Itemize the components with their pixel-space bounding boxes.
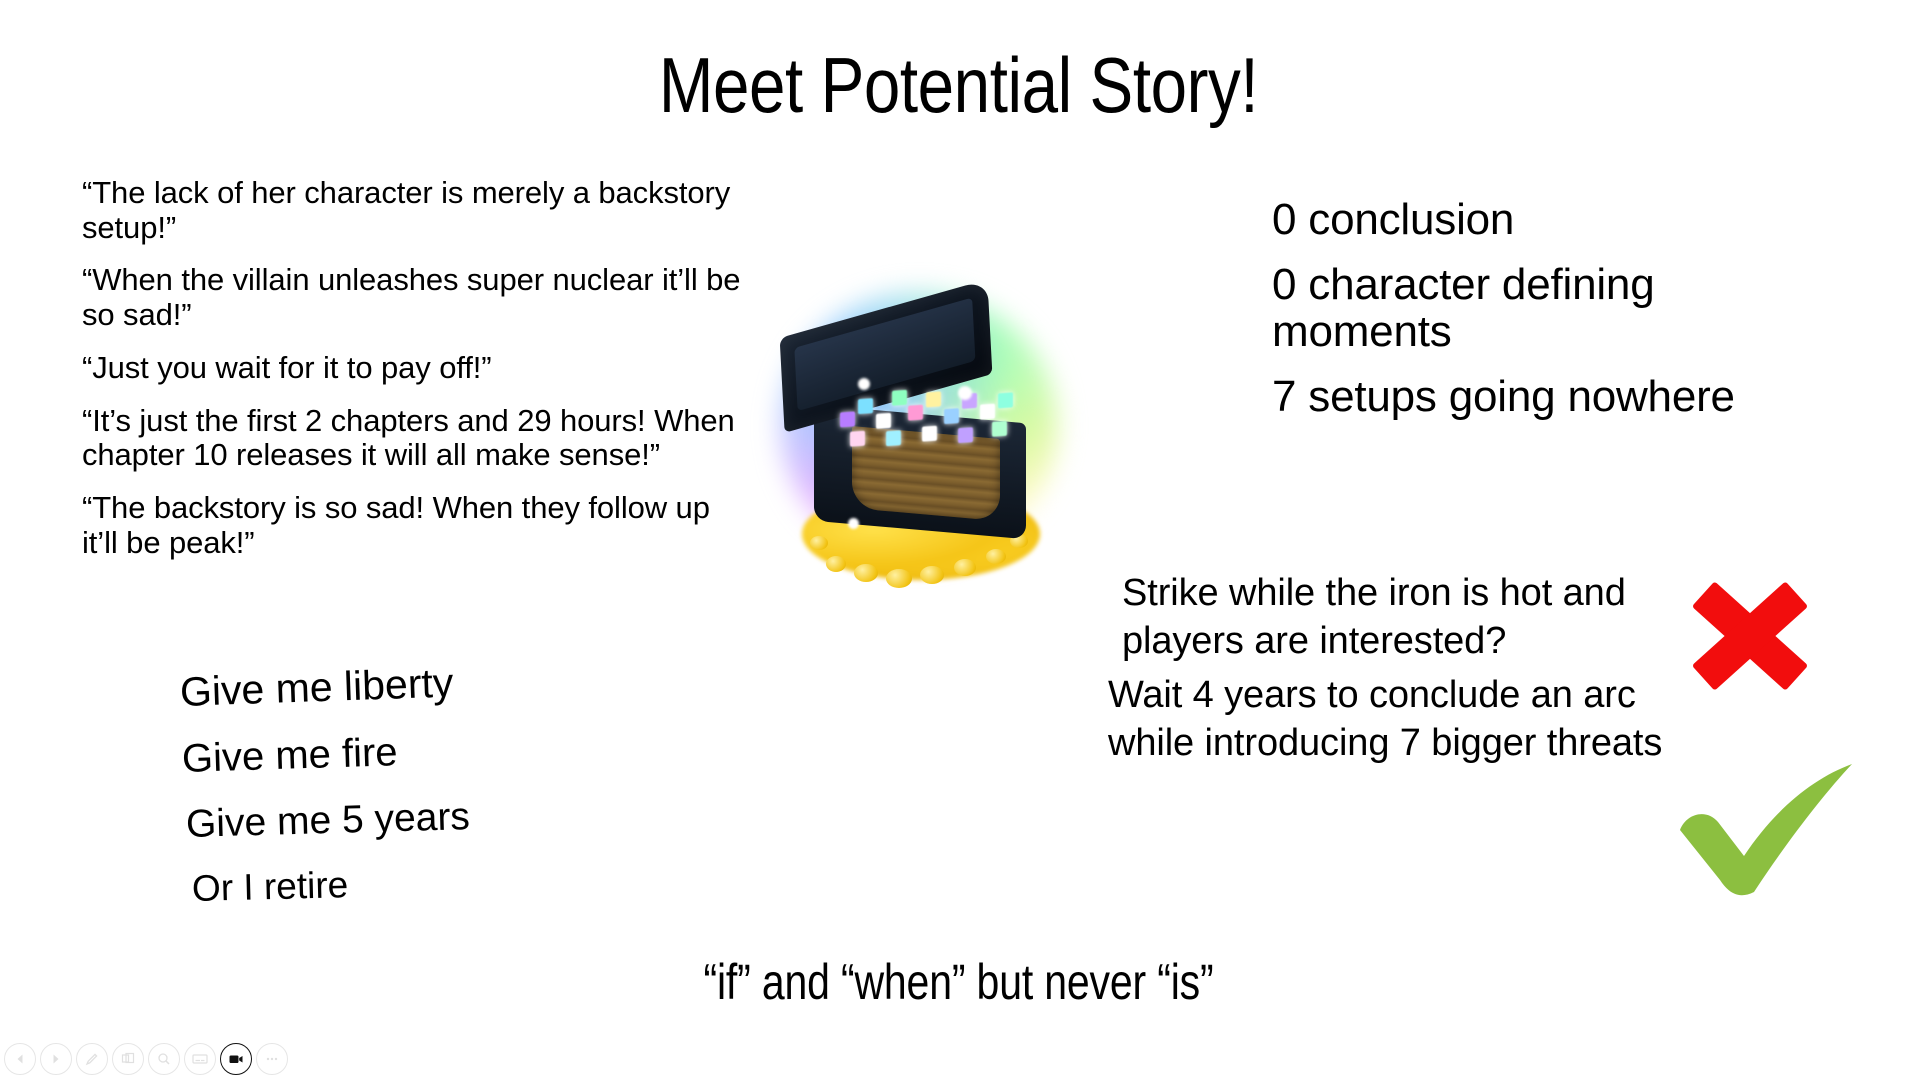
treasure-chest-image [762, 282, 1082, 602]
poem-line: Give me liberty [179, 655, 670, 713]
gem [858, 398, 873, 414]
stats-list: 0 conclusion 0 character defining moment… [1272, 196, 1792, 420]
presentation-slide: Meet Potential Story! “The lack of her c… [0, 0, 1917, 1079]
gem [892, 390, 907, 406]
page-title: Meet Potential Story! [153, 46, 1763, 124]
stat-item: 7 setups going nowhere [1272, 373, 1792, 420]
gem [850, 431, 865, 447]
gem [908, 405, 923, 421]
captions-icon[interactable] [184, 1043, 216, 1075]
gold-coin [954, 559, 976, 576]
sparkle [848, 518, 859, 529]
gold-coin [986, 549, 1006, 564]
list-item: “Just you wait for it to pay off!” [82, 351, 742, 386]
poem-block: Give me liberty Give me fire Give me 5 y… [150, 672, 670, 907]
stat-item: 0 character defining moments [1272, 261, 1792, 355]
camera-icon[interactable] [220, 1043, 252, 1075]
magnifier-icon[interactable] [148, 1043, 180, 1075]
presentation-toolbar [0, 1039, 288, 1079]
previous-slide-icon[interactable] [4, 1043, 36, 1075]
gold-coin [810, 536, 828, 550]
green-check-mark-icon [1672, 760, 1862, 900]
gold-coin [854, 564, 878, 582]
gem [958, 427, 973, 443]
stat-item: 0 conclusion [1272, 196, 1792, 243]
poem-line: Or I retire [192, 858, 671, 907]
pen-icon[interactable] [76, 1043, 108, 1075]
next-slide-icon[interactable] [40, 1043, 72, 1075]
red-x-mark-icon [1688, 582, 1812, 690]
sparkle [958, 386, 972, 400]
gold-coin [826, 556, 846, 572]
accepted-option-text: Wait 4 years to conclude an arc while in… [1108, 672, 1668, 768]
fan-quotes-list: “The lack of her character is merely a b… [82, 176, 742, 560]
rejected-option-text: Strike while the iron is hot and players… [1108, 570, 1668, 666]
gem [998, 392, 1013, 408]
gem [944, 408, 959, 424]
list-item: “The backstory is so sad! When they foll… [82, 491, 742, 560]
gold-coin [920, 566, 944, 584]
gold-coin [886, 569, 912, 588]
gem [886, 430, 901, 446]
list-item: “When the villain unleashes super nuclea… [82, 263, 742, 332]
gem [992, 421, 1007, 437]
gem [980, 404, 995, 420]
gem [922, 426, 937, 442]
sparkle [858, 378, 870, 390]
poem-line: Give me fire [181, 724, 670, 779]
list-item: “It’s just the first 2 chapters and 29 h… [82, 404, 742, 473]
layers-icon[interactable] [112, 1043, 144, 1075]
poem-line: Give me 5 years [185, 791, 670, 843]
gem [876, 413, 891, 429]
more-options-icon[interactable] [256, 1043, 288, 1075]
list-item: “The lack of her character is merely a b… [82, 176, 742, 245]
slide-caption: “if” and “when” but never “is” [173, 953, 1745, 1011]
gem [840, 411, 855, 427]
gem [926, 391, 941, 407]
comparison-block: Strike while the iron is hot and players… [1108, 570, 1668, 768]
